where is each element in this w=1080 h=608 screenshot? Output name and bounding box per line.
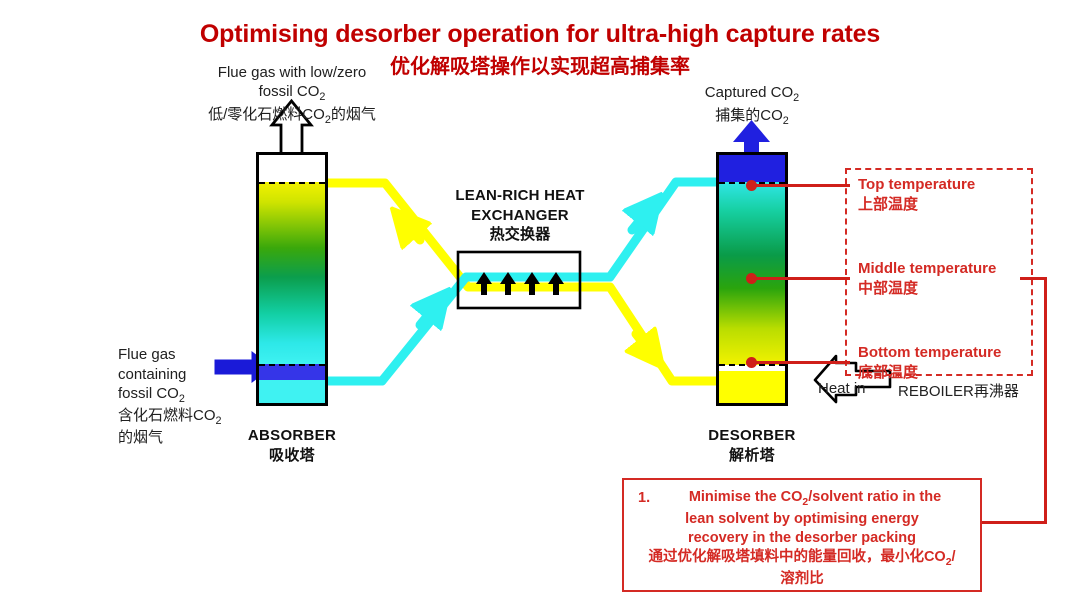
absorber-outlet-label-zh-a: 低/零化石燃料CO — [208, 106, 325, 123]
heat-exchanger-name: LEAN-RICH HEAT EXCHANGER 热交换器 — [432, 186, 608, 245]
middle-temperature-label: Middle temperature 中部温度 — [858, 259, 1033, 298]
absorber-sump-liquid — [259, 380, 325, 403]
bottom-temperature-label: Bottom temperature 底部温度 — [858, 343, 1033, 382]
desorber-outlet-label-en: Captured CO — [705, 84, 793, 101]
bottom-temperature-label-en: Bottom temperature — [858, 344, 1001, 361]
bottom-temperature-leader-line — [750, 361, 850, 364]
desorber-sump-liquid — [719, 371, 785, 403]
page-title-chinese: 优化解吸塔操作以实现超高捕集率 — [0, 50, 1080, 79]
desorber-outlet-label-en-sub: 2 — [793, 92, 799, 104]
heat-exchanger-name-en1: LEAN-RICH HEAT — [455, 187, 584, 204]
top-temperature-probe-dot — [746, 180, 757, 191]
top-temperature-label: Top temperature 上部温度 — [858, 175, 1033, 214]
absorber-name: ABSORBER 吸收塔 — [222, 427, 362, 465]
note-connector-vertical — [1044, 277, 1047, 523]
absorber-inlet-label-zh-sub: 2 — [216, 415, 222, 427]
top-temperature-label-en: Top temperature — [858, 176, 975, 193]
heat-exchanger-arrows — [476, 272, 564, 295]
absorber-top-dashed-line — [259, 182, 325, 184]
middle-temperature-leader-line — [750, 277, 850, 280]
absorber-inlet-label-en3: fossil CO — [118, 385, 179, 402]
page-title-english: Optimising desorber operation for ultra-… — [0, 20, 1080, 49]
heat-exchanger-box — [458, 252, 580, 308]
heat-in-label: Heat in — [818, 380, 866, 397]
absorber-outlet-label-zh-b: 的烟气 — [331, 106, 376, 123]
note-line-zh-1: 通过优化解吸塔填料中的能量回收，最小化CO2/ — [638, 548, 966, 570]
absorber-outlet-label-en1: Flue gas with low/zero — [218, 64, 366, 81]
note-line-1b: /solvent ratio in the — [808, 489, 941, 505]
desorber-name-en: DESORBER — [708, 427, 795, 444]
middle-temperature-label-zh: 中部温度 — [858, 280, 918, 297]
diagram-canvas: Optimising desorber operation for ultra-… — [0, 0, 1080, 608]
note-line-zh-1a: 通过优化解吸塔填料中的能量回收，最小化CO — [648, 549, 945, 565]
absorber-bottom-dashed-line — [259, 364, 325, 366]
note-line-zh-1b: / — [952, 549, 956, 565]
absorber-packing-gradient — [259, 182, 325, 365]
reboiler-label: REBOILER再沸器 — [898, 380, 1019, 401]
absorber-name-en: ABSORBER — [248, 427, 336, 444]
desorber-top-vapour-space — [719, 155, 785, 182]
note-line-1: Minimise the CO2/solvent ratio in the — [638, 488, 966, 510]
reboiler-label-zh: 再沸器 — [974, 383, 1019, 400]
absorber-gas-inlet-band — [259, 364, 325, 380]
reboiler-label-en: REBOILER — [898, 383, 974, 400]
note-number: 1. — [638, 489, 650, 508]
heat-exchanger-name-en2: EXCHANGER — [471, 207, 569, 224]
desorber-outlet-label: Captured CO2 捕集的CO2 — [668, 83, 836, 129]
heat-in-label-text: Heat in — [818, 380, 866, 397]
absorber-inlet-label-en-sub: 2 — [179, 393, 185, 405]
absorber-inlet-label-en1: Flue gas — [118, 346, 176, 363]
top-temperature-label-zh: 上部温度 — [858, 196, 918, 213]
absorber-outlet-label-en-sub: 2 — [319, 91, 325, 103]
heat-exchanger-name-zh: 热交换器 — [490, 226, 551, 243]
absorber-inlet-label-en2: containing — [118, 366, 186, 383]
desorber-outlet-label-zh-sub: 2 — [783, 115, 789, 127]
middle-temperature-label-en: Middle temperature — [858, 260, 996, 277]
absorber-inlet-label-zh-b: 的烟气 — [118, 429, 163, 446]
absorber-name-zh: 吸收塔 — [269, 447, 315, 464]
bottom-temperature-label-zh: 底部温度 — [858, 364, 918, 381]
absorber-outlet-label: Flue gas with low/zero fossil CO2 低/零化石燃… — [176, 63, 408, 128]
absorber-outlet-label-en2: fossil CO — [259, 83, 320, 100]
top-temperature-leader-line — [750, 184, 850, 187]
note-line-2: lean solvent by optimising energy — [638, 510, 966, 529]
note-line-3: recovery in the desorber packing — [638, 529, 966, 548]
note-line-1a: Minimise the CO — [689, 489, 803, 505]
note-line-zh-2: 溶剂比 — [638, 570, 966, 589]
desorber-name-zh: 解析塔 — [729, 447, 775, 464]
desorber-outlet-label-zh: 捕集的CO — [715, 107, 783, 124]
bottom-temperature-probe-dot — [746, 357, 757, 368]
note-box: 1. Minimise the CO2/solvent ratio in the… — [622, 478, 982, 592]
absorber-inlet-label-zh-a: 含化石燃料CO — [118, 407, 216, 424]
absorber-inlet-label: Flue gas containing fossil CO2 含化石燃料CO2 … — [118, 345, 228, 448]
desorber-name: DESORBER 解析塔 — [682, 427, 822, 465]
note-connector-horizontal-bottom — [981, 521, 1047, 524]
middle-temperature-probe-dot — [746, 273, 757, 284]
note-connector-horizontal-top — [1020, 277, 1047, 280]
